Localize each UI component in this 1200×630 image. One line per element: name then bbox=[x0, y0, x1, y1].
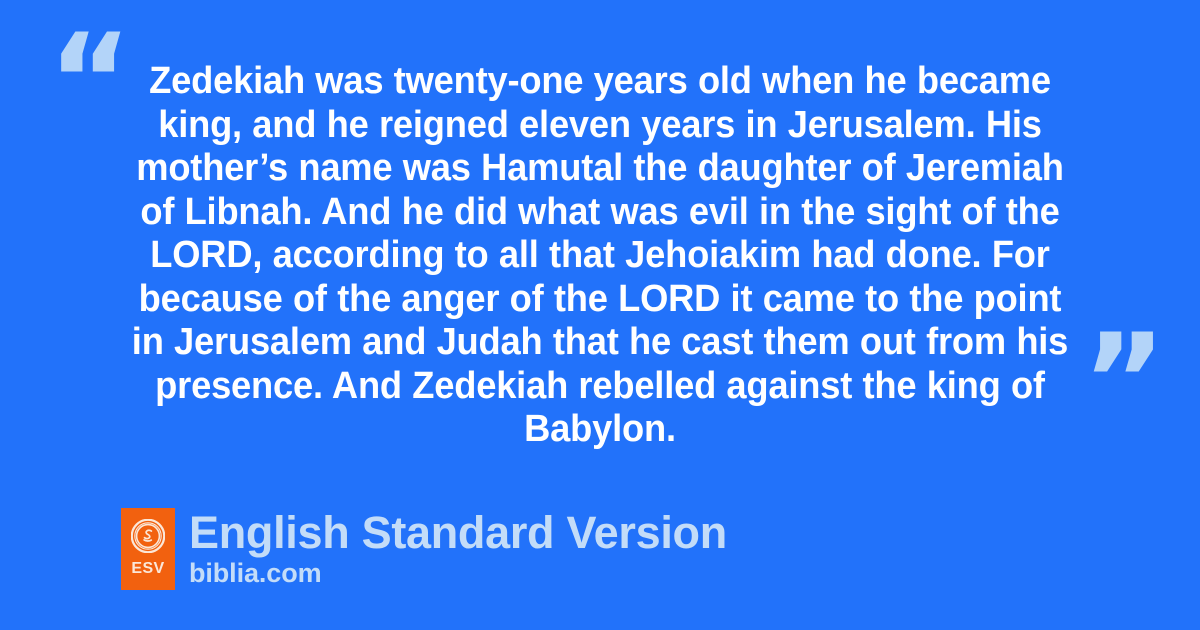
attribution-text: English Standard Version biblia.com bbox=[189, 508, 727, 588]
closing-quote-icon: ” bbox=[1082, 318, 1166, 446]
esv-badge-label: ESV bbox=[131, 561, 164, 577]
bible-version-name: English Standard Version bbox=[189, 510, 727, 556]
attribution-footer: ESV English Standard Version biblia.com bbox=[121, 508, 727, 590]
verse-text: Zedekiah was twenty-one years old when h… bbox=[130, 60, 1070, 452]
esv-seal-icon bbox=[131, 519, 165, 553]
verse-container: Zedekiah was twenty-one years old when h… bbox=[108, 60, 1092, 430]
site-url: biblia.com bbox=[189, 558, 727, 588]
esv-badge: ESV bbox=[121, 508, 175, 590]
verse-card: “ Zedekiah was twenty-one years old when… bbox=[0, 0, 1200, 630]
